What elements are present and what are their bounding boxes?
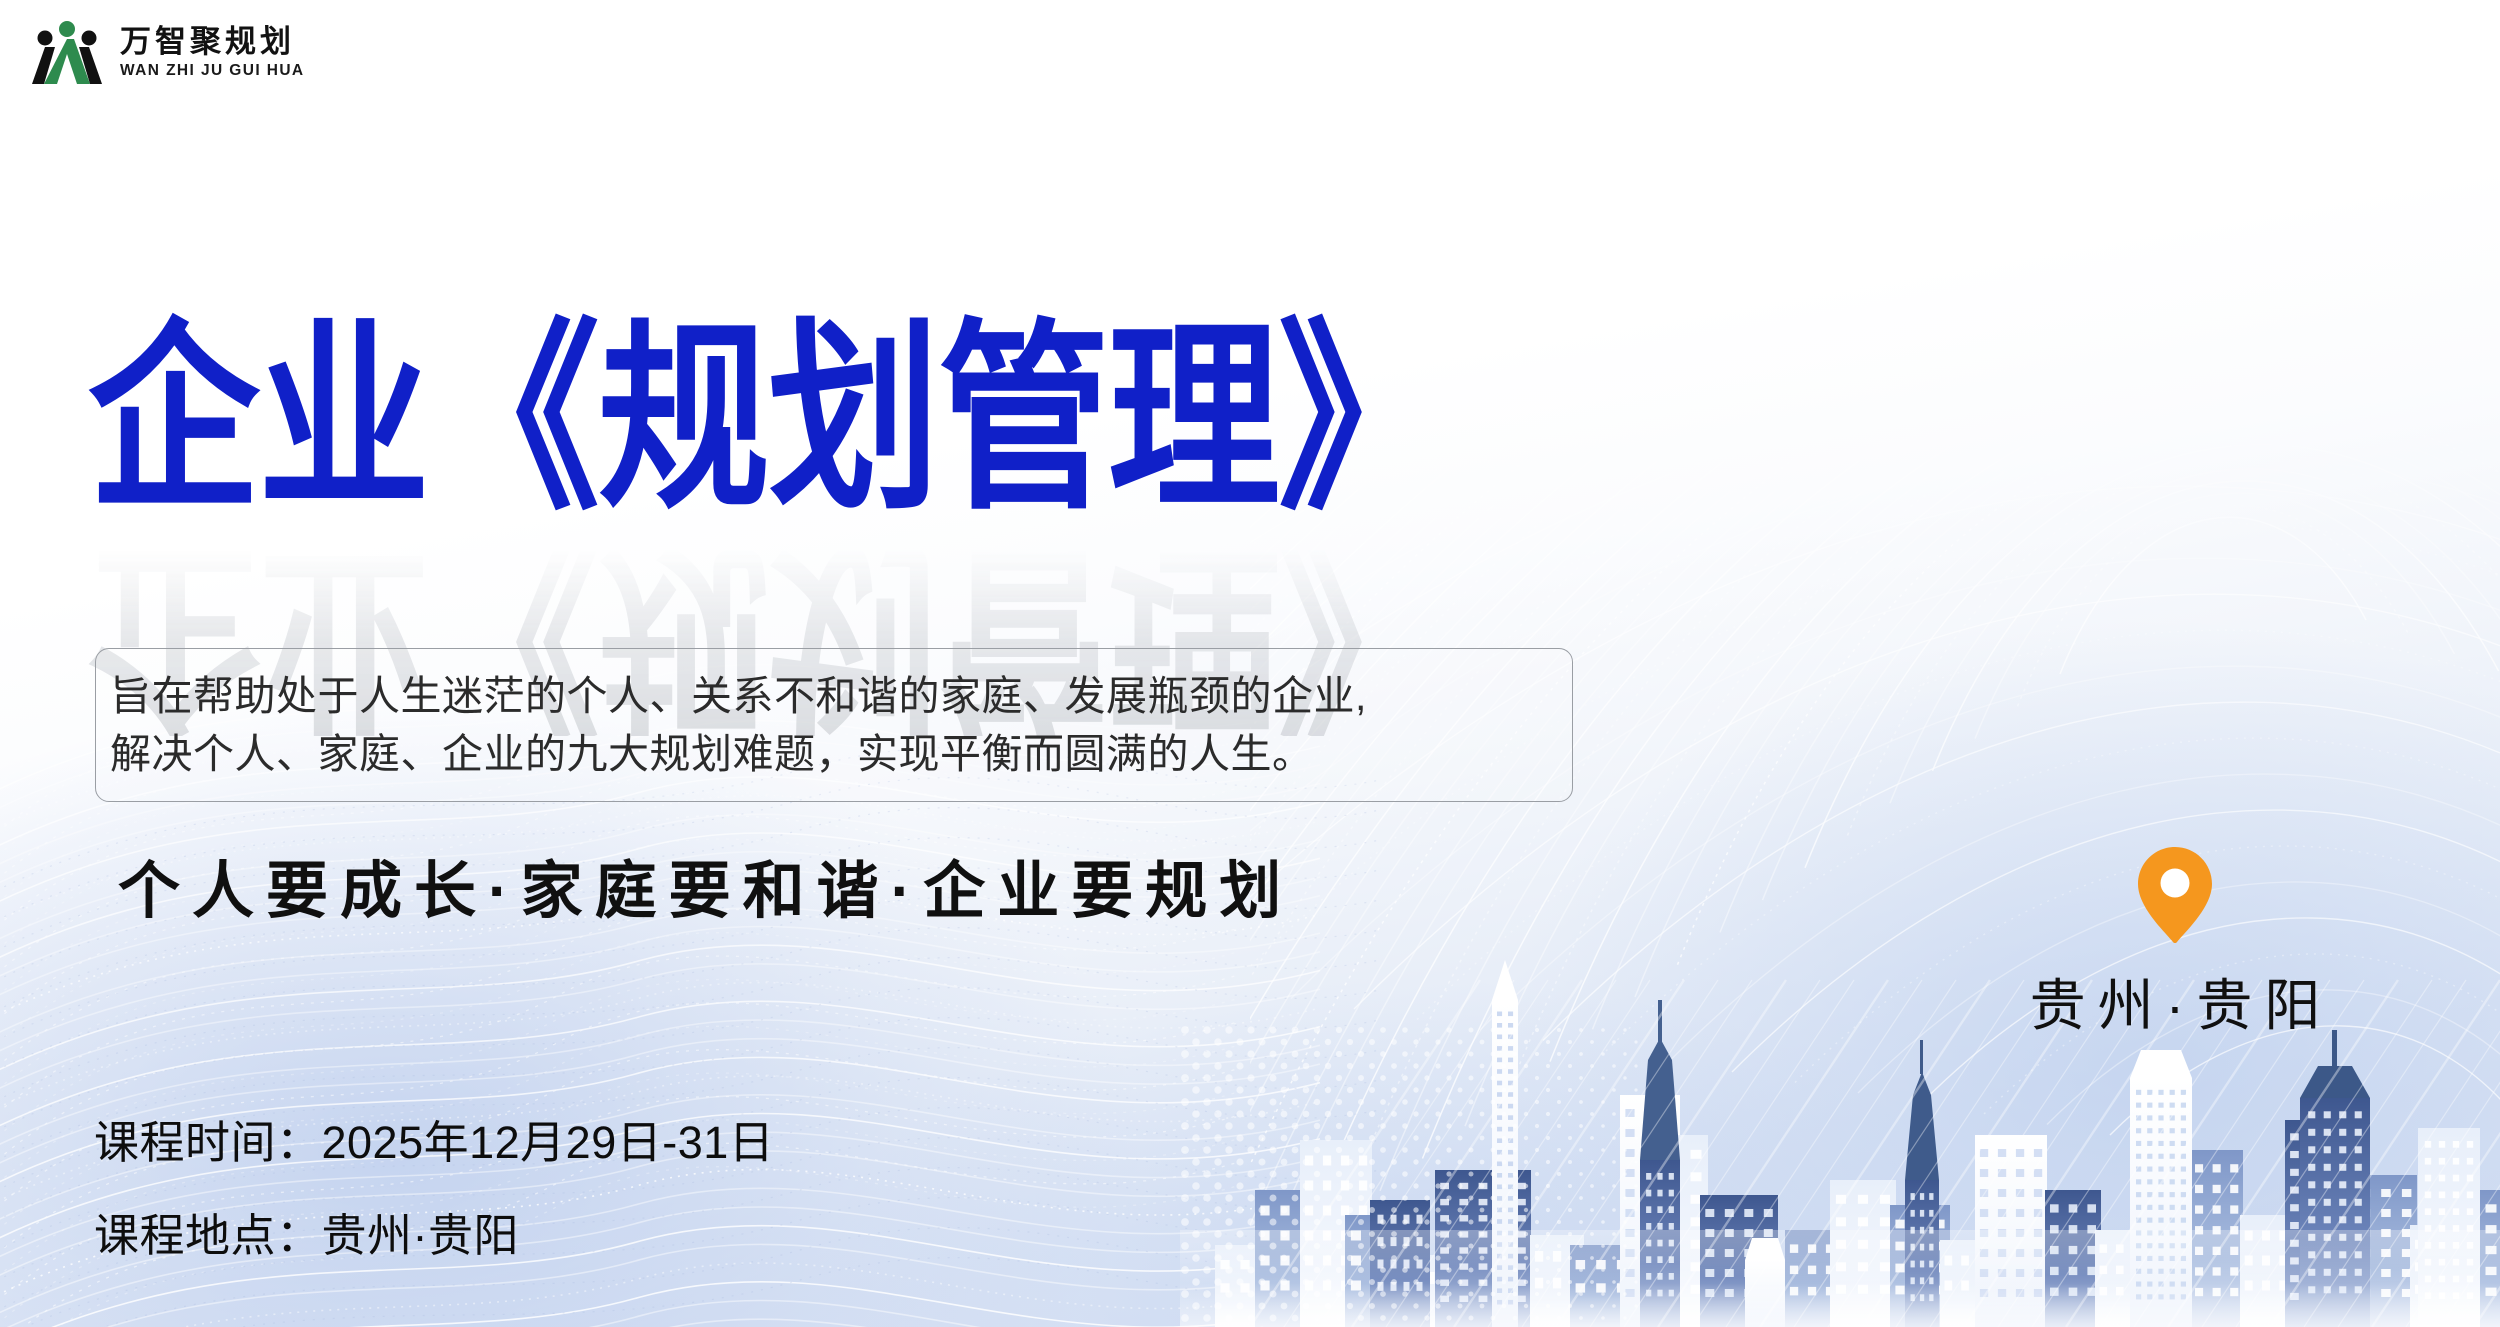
location-label: 贵州·贵阳	[2018, 961, 2333, 1042]
brand-name-en: WAN ZHI JU GUI HUA	[120, 62, 305, 79]
three-people-mark-icon	[28, 16, 106, 88]
description-line-1: 旨在帮助处于人生迷茫的个人、关系不和谐的家庭、发展瓶颈的企业,	[110, 667, 1572, 725]
description-line-2: 解决个人、家庭、企业的九大规划难题，实现平衡而圆满的人生。	[110, 725, 1572, 783]
brand-name-cn: 万智聚规划	[120, 25, 305, 60]
location-block: 贵州·贵阳	[1960, 845, 2390, 1042]
map-pin-icon	[2134, 845, 2216, 945]
background-glow-center	[820, 980, 2020, 1327]
poster-canvas: 万智聚规划 WAN ZHI JU GUI HUA 企业《规划管理》 企业《规划管…	[0, 0, 2500, 1327]
course-info-block: 课程时间：2025年12月29日-31日 课程地点：贵州·贵阳	[94, 1120, 774, 1258]
page-title: 企业《规划管理》	[88, 318, 1448, 521]
course-time-line: 课程时间：2025年12月29日-31日	[94, 1120, 774, 1165]
course-place-line: 课程地点：贵州·贵阳	[94, 1213, 774, 1258]
description-box: 旨在帮助处于人生迷茫的个人、关系不和谐的家庭、发展瓶颈的企业, 解决个人、家庭、…	[95, 648, 1573, 802]
slogan-text: 个人要成长·家庭要和谐·企业要规划	[118, 840, 1293, 930]
main-title-block: 企业《规划管理》 企业《规划管理》	[88, 318, 1608, 688]
brand-logo[interactable]: 万智聚规划 WAN ZHI JU GUI HUA	[28, 16, 305, 88]
